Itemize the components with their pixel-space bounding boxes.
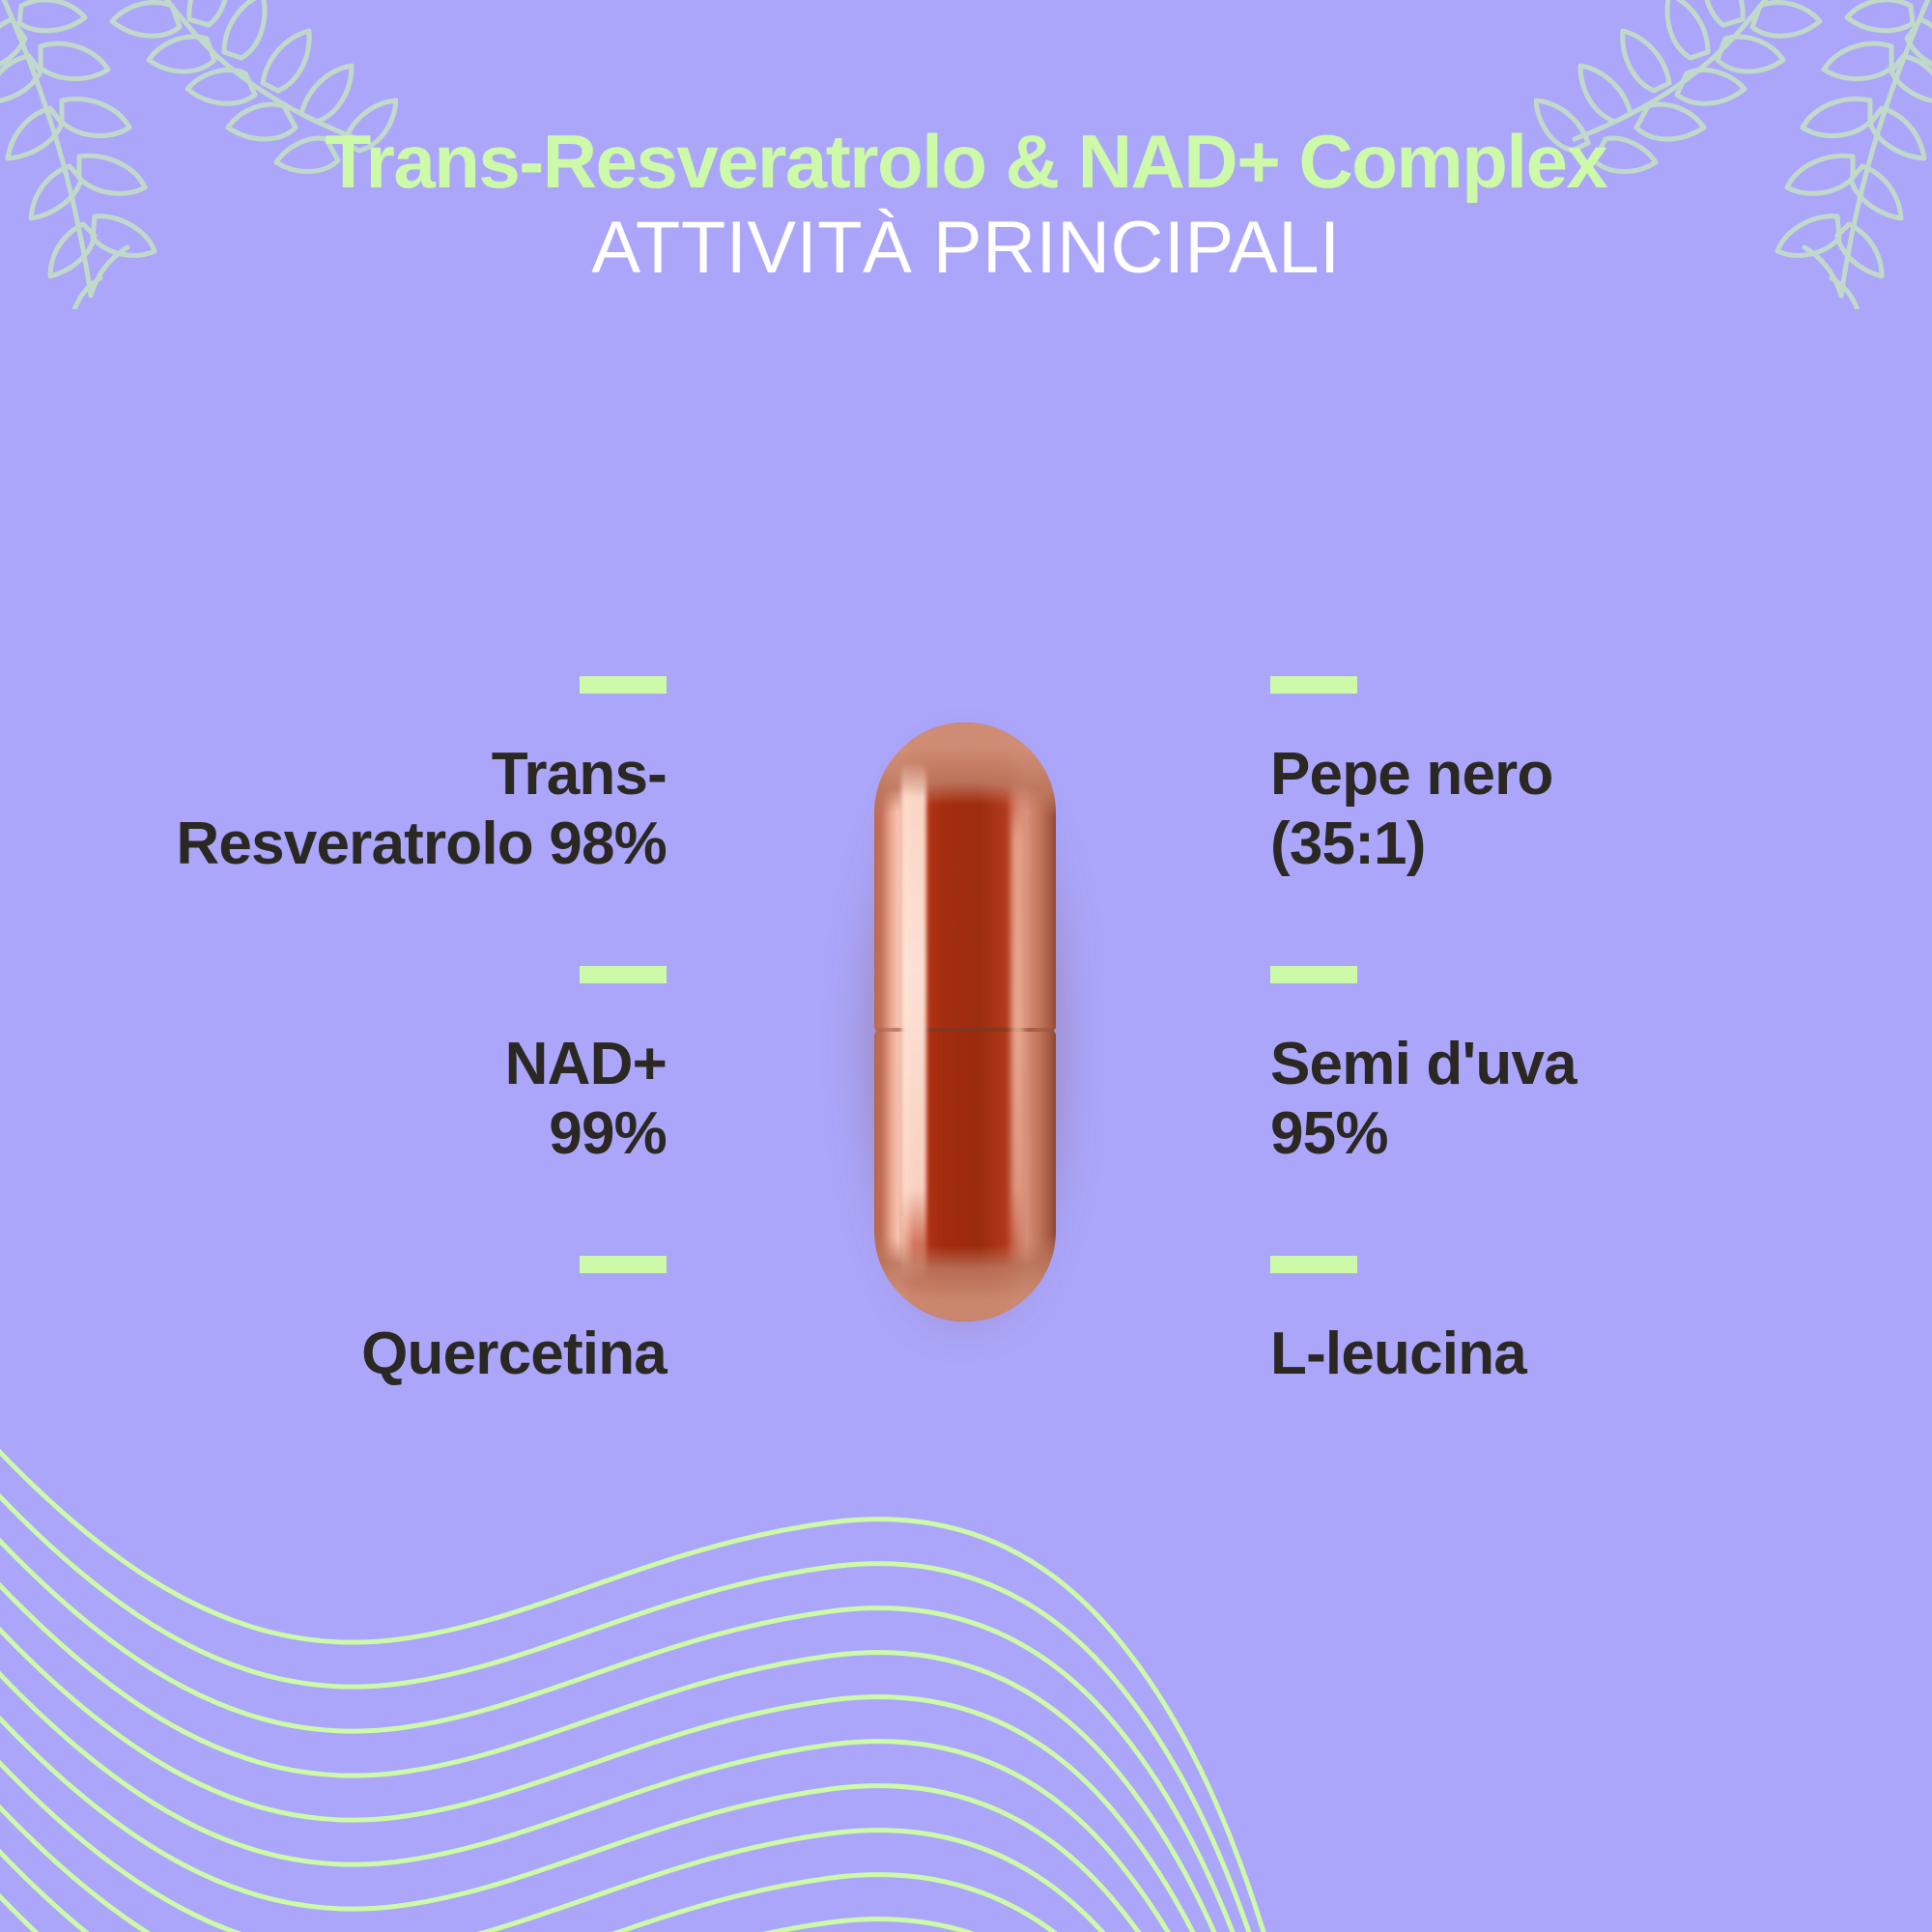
capsule-body	[874, 723, 1056, 1321]
ingredient-column-left: Trans- Resveratrolo 98% NAD+ 99% Quercet…	[97, 676, 667, 1449]
ingredient-item-semi-duva: Semi d'uva 95%	[1270, 966, 1840, 1256]
accent-dash-icon	[1270, 1256, 1357, 1273]
capsule-highlight-secondary	[1011, 781, 1024, 1264]
ingredient-item-pepe-nero: Pepe nero (35:1)	[1270, 676, 1840, 966]
ingredient-item-nad-plus: NAD+ 99%	[97, 966, 667, 1256]
page-title: Trans-Resveratrolo & NAD+ Complex	[0, 124, 1932, 201]
ingredient-label: L-leucina	[1270, 1320, 1840, 1389]
page-subtitle: ATTIVITÀ PRINCIPALI	[0, 207, 1932, 289]
capsule-highlight-primary	[901, 761, 926, 1283]
ingredient-label: Semi d'uva 95%	[1270, 1030, 1840, 1169]
ingredient-column-right: Pepe nero (35:1) Semi d'uva 95% L-leucin…	[1270, 676, 1840, 1449]
ingredient-label: NAD+ 99%	[97, 1030, 667, 1169]
ingredient-label: Pepe nero (35:1)	[1270, 740, 1840, 879]
ingredient-item-quercetina: Quercetina	[97, 1256, 667, 1449]
ingredient-item-trans-resveratrolo: Trans- Resveratrolo 98%	[97, 676, 667, 966]
accent-dash-icon	[1270, 966, 1357, 983]
accent-dash-icon	[580, 1256, 667, 1273]
header-block: Trans-Resveratrolo & NAD+ Complex ATTIVI…	[0, 124, 1932, 289]
accent-dash-icon	[580, 676, 667, 694]
product-capsule-image	[865, 717, 1058, 1327]
accent-dash-icon	[580, 966, 667, 983]
wave-lines-decoration	[0, 1391, 1932, 1932]
ingredient-item-l-leucina: L-leucina	[1270, 1256, 1840, 1449]
accent-dash-icon	[1270, 676, 1357, 694]
infographic-canvas: Trans-Resveratrolo & NAD+ Complex ATTIVI…	[0, 0, 1932, 1932]
ingredient-label: Quercetina	[97, 1320, 667, 1389]
ingredient-label: Trans- Resveratrolo 98%	[97, 740, 667, 879]
